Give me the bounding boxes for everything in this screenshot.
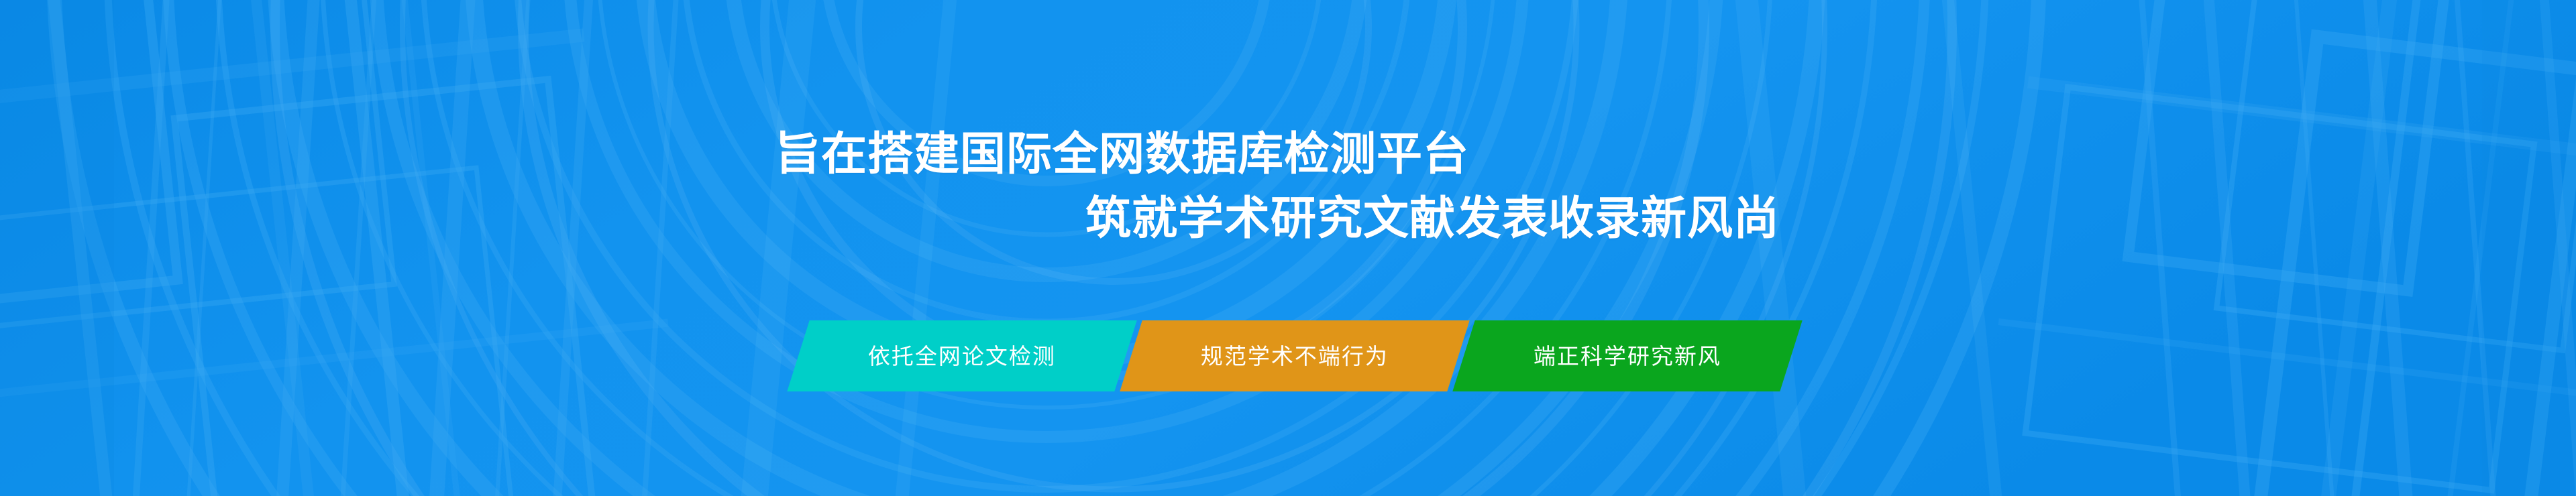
promo-banner: 旨在搭建国际全网数据库检测平台 筑就学术研究文献发表收录新风尚 依托全网论文检测… <box>0 0 2576 496</box>
feature-tag-group: 依托全网论文检测 规范学术不端行为 端正科学研究新风 <box>0 320 2576 391</box>
feature-tag-3[interactable]: 端正科学研究新风 <box>1452 320 1802 391</box>
background-decoration <box>0 0 2576 496</box>
feature-tag-3-label: 端正科学研究新风 <box>1534 345 1721 367</box>
feature-tag-1[interactable]: 依托全网论文检测 <box>787 320 1136 391</box>
feature-tag-2[interactable]: 规范学术不端行为 <box>1120 320 1469 391</box>
feature-tag-2-label: 规范学术不端行为 <box>1201 345 1389 367</box>
feature-tag-1-label: 依托全网论文检测 <box>868 345 1056 367</box>
